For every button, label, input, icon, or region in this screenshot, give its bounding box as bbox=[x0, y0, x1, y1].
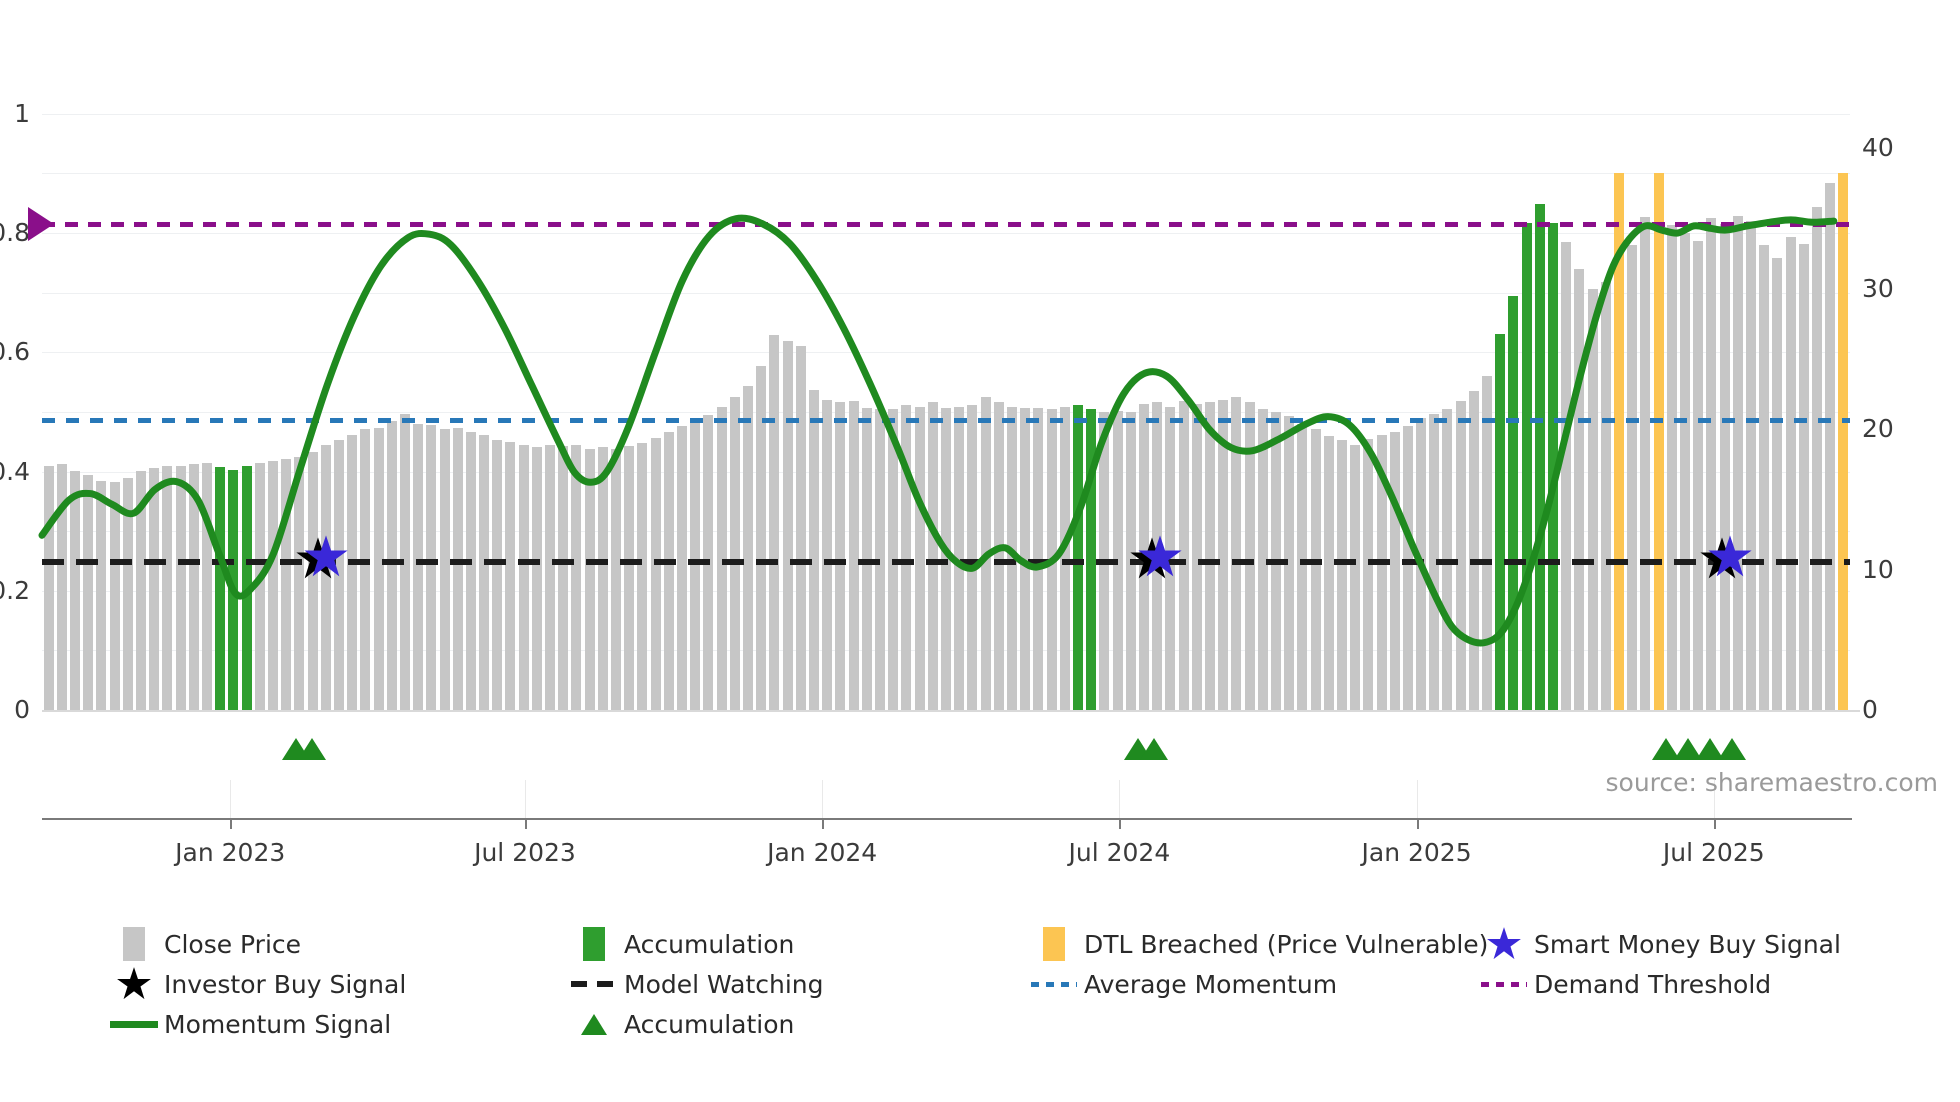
accumulation-triangle-icon bbox=[1718, 738, 1746, 760]
legend-key bbox=[564, 1014, 624, 1035]
plot-area bbox=[42, 78, 1850, 710]
star-icon bbox=[1486, 926, 1522, 962]
x-axis-tick-label: Jul 2025 bbox=[1663, 838, 1765, 867]
x-axis-tick bbox=[1119, 818, 1121, 829]
x-axis-tick-label: Jan 2023 bbox=[175, 838, 285, 867]
x-axis-tick bbox=[1714, 818, 1716, 829]
x-axis-tick-label: Jul 2023 bbox=[474, 838, 576, 867]
y-axis-right-tick: 40 bbox=[1862, 135, 1894, 160]
legend-item[interactable]: Investor Buy Signal bbox=[104, 965, 406, 1003]
y-axis-right-tick: 10 bbox=[1862, 557, 1894, 582]
accumulation-swatch bbox=[583, 927, 605, 961]
plot-baseline bbox=[42, 710, 1860, 712]
x-axis-tick-label: Jan 2025 bbox=[1362, 838, 1472, 867]
x-axis-tick-label: Jul 2024 bbox=[1068, 838, 1170, 867]
smart-money-buy-signal-marker bbox=[1707, 534, 1753, 584]
star-icon bbox=[1707, 534, 1753, 580]
x-axis-line bbox=[42, 818, 1852, 820]
legend-item[interactable]: Model Watching bbox=[564, 965, 824, 1003]
legend-item[interactable]: Smart Money Buy Signal bbox=[1474, 925, 1841, 963]
legend-key bbox=[564, 927, 624, 961]
legend-item-label: Accumulation bbox=[624, 1010, 794, 1039]
y-axis-right-tick: 20 bbox=[1862, 416, 1894, 441]
y-axis-left-tick: 0.6 bbox=[0, 339, 30, 364]
y-axis-left-tick: 0.2 bbox=[0, 578, 30, 603]
legend-item[interactable]: Close Price bbox=[104, 925, 301, 963]
dtl-breached-swatch bbox=[1043, 927, 1065, 961]
star-icon bbox=[116, 966, 152, 1002]
legend-item-label: Momentum Signal bbox=[164, 1010, 391, 1039]
legend-item-label: Smart Money Buy Signal bbox=[1534, 930, 1841, 959]
legend-item-label: DTL Breached (Price Vulnerable) bbox=[1084, 930, 1488, 959]
legend-row: Investor Buy SignalModel WatchingAverage… bbox=[104, 965, 1894, 1003]
accumulation-triangle-icon bbox=[298, 738, 326, 760]
legend-item-label: Model Watching bbox=[624, 970, 824, 999]
x-axis-gridline bbox=[822, 780, 823, 818]
legend-key bbox=[1474, 982, 1534, 987]
accumulation-triangle-icon bbox=[1140, 738, 1168, 760]
legend-key bbox=[1474, 926, 1534, 962]
y-axis-left-tick: 0 bbox=[0, 697, 30, 722]
dashed-line-key bbox=[571, 981, 617, 987]
legend-key bbox=[564, 981, 624, 987]
smart-money-buy-signal-marker bbox=[303, 534, 349, 584]
y-axis-right-tick: 0 bbox=[1862, 697, 1878, 722]
legend-key bbox=[104, 927, 164, 961]
x-axis-tick bbox=[525, 818, 527, 829]
legend-item[interactable]: Accumulation bbox=[564, 925, 794, 963]
close-price-swatch bbox=[123, 927, 145, 961]
dotted-line-key bbox=[1031, 982, 1077, 987]
y-axis-left-tick: 1 bbox=[0, 101, 30, 126]
source-attribution: source: sharemaestro.com bbox=[1606, 768, 1939, 797]
y-axis-left-tick: 0.8 bbox=[0, 220, 30, 245]
x-axis-tick bbox=[822, 818, 824, 829]
legend-row: Momentum SignalAccumulation bbox=[104, 1005, 1894, 1043]
smart-money-buy-signal-marker bbox=[1137, 534, 1183, 584]
x-axis-tick-label: Jan 2024 bbox=[767, 838, 877, 867]
legend-key bbox=[104, 966, 164, 1002]
star-icon bbox=[1137, 534, 1183, 580]
legend-item[interactable]: Average Momentum bbox=[1024, 965, 1337, 1003]
y-axis-right-tick: 30 bbox=[1862, 276, 1894, 301]
legend-row: Close PriceAccumulationDTL Breached (Pri… bbox=[104, 925, 1894, 963]
legend-item-label: Average Momentum bbox=[1084, 970, 1337, 999]
chart-legend: Close PriceAccumulationDTL Breached (Pri… bbox=[104, 925, 1894, 1045]
x-axis-tick bbox=[1417, 818, 1419, 829]
legend-item-label: Demand Threshold bbox=[1534, 970, 1771, 999]
momentum-signal-line bbox=[42, 78, 1850, 710]
star-icon bbox=[303, 534, 349, 580]
x-axis-gridline bbox=[1417, 780, 1418, 818]
legend-item[interactable]: Accumulation bbox=[564, 1005, 794, 1043]
legend-item-label: Accumulation bbox=[624, 930, 794, 959]
legend-item-label: Investor Buy Signal bbox=[164, 970, 406, 999]
legend-key bbox=[1024, 927, 1084, 961]
legend-key bbox=[1024, 982, 1084, 987]
legend-key bbox=[104, 1021, 164, 1028]
legend-item[interactable]: DTL Breached (Price Vulnerable) bbox=[1024, 925, 1488, 963]
legend-item-label: Close Price bbox=[164, 930, 301, 959]
legend-item[interactable]: Demand Threshold bbox=[1474, 965, 1771, 1003]
x-axis-gridline bbox=[1119, 780, 1120, 818]
solid-line-key bbox=[110, 1021, 158, 1028]
chart-root: 00.20.40.60.81 010203040 Jan 2023Jul 202… bbox=[0, 0, 1960, 1102]
dotted-line-key bbox=[1481, 982, 1527, 987]
legend-item[interactable]: Momentum Signal bbox=[104, 1005, 391, 1043]
x-axis-gridline bbox=[525, 780, 526, 818]
y-axis-left-tick: 0.4 bbox=[0, 459, 30, 484]
x-axis-gridline bbox=[230, 780, 231, 818]
triangle-icon bbox=[581, 1014, 607, 1035]
x-axis-tick bbox=[230, 818, 232, 829]
